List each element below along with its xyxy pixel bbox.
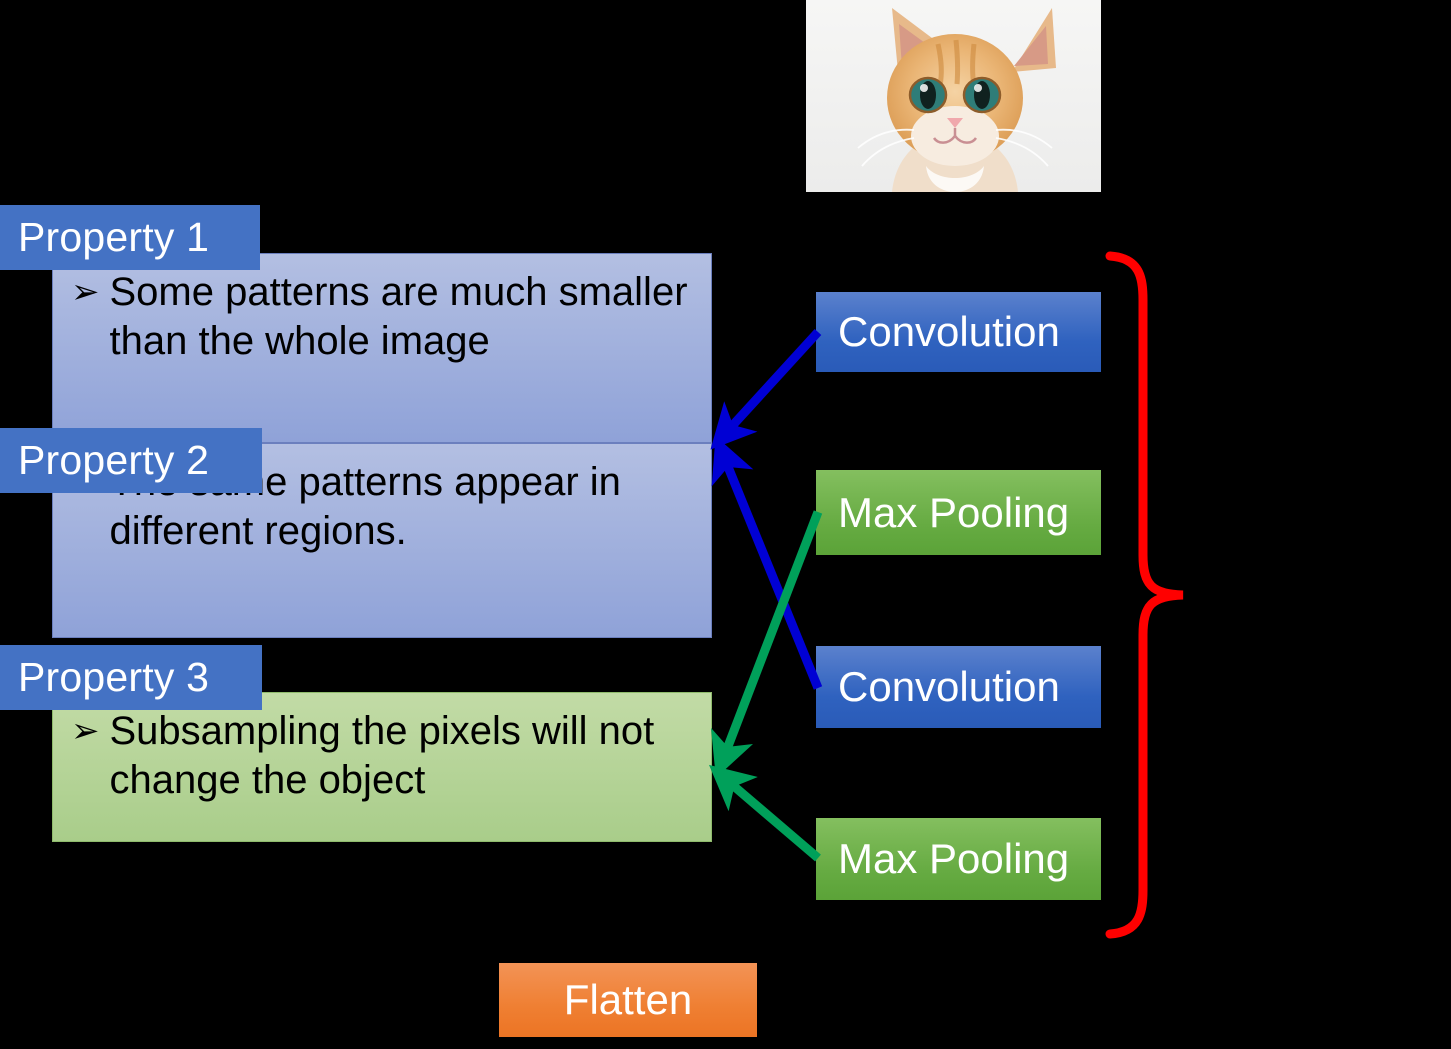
arrow-bullet-icon: ➢ — [71, 707, 100, 755]
layer-flatten[interactable]: Flatten — [499, 963, 757, 1037]
layer-max-pooling-1-label: Max Pooling — [838, 492, 1069, 534]
arrow-pool2-to-property — [722, 776, 818, 858]
arrow-bullet-icon: ➢ — [71, 268, 100, 316]
red-brace — [1110, 256, 1183, 934]
property-3-label: Property 3 — [0, 645, 262, 710]
property-3-bullet-line: ➢ Subsampling the pixels will not change… — [71, 707, 701, 805]
arrow-conv2-to-property — [722, 452, 818, 688]
property-1-label: Property 1 — [0, 205, 260, 270]
property-1-label-text: Property 1 — [18, 217, 209, 258]
layer-flatten-label: Flatten — [564, 979, 692, 1021]
property-1-bullet-line: ➢ Some patterns are much smaller than th… — [71, 268, 701, 366]
layer-max-pooling-1[interactable]: Max Pooling — [816, 470, 1101, 555]
property-1-text: Some patterns are much smaller than the … — [110, 268, 702, 366]
layer-convolution-1-label: Convolution — [838, 311, 1060, 353]
layer-convolution-2[interactable]: Convolution — [816, 646, 1101, 728]
layer-max-pooling-2-label: Max Pooling — [838, 838, 1069, 880]
layer-convolution-2-label: Convolution — [838, 666, 1060, 708]
property-3-text: Subsampling the pixels will not change t… — [110, 707, 702, 805]
arrow-conv1-to-property — [722, 332, 818, 437]
property-3-body: ➢ Subsampling the pixels will not change… — [52, 692, 712, 842]
property-1-body: ➢ Some patterns are much smaller than th… — [52, 253, 712, 443]
kitten-illustration — [806, 0, 1101, 192]
arrow-pool1-to-property — [722, 512, 818, 762]
property-2-label: Property 2 — [0, 428, 262, 493]
kitten-photo — [806, 0, 1101, 192]
layer-convolution-1[interactable]: Convolution — [816, 292, 1101, 372]
property-2-label-text: Property 2 — [18, 440, 209, 481]
property-3-label-text: Property 3 — [18, 657, 209, 698]
slide-canvas: ➢ Some patterns are much smaller than th… — [0, 0, 1451, 1049]
layer-max-pooling-2[interactable]: Max Pooling — [816, 818, 1101, 900]
